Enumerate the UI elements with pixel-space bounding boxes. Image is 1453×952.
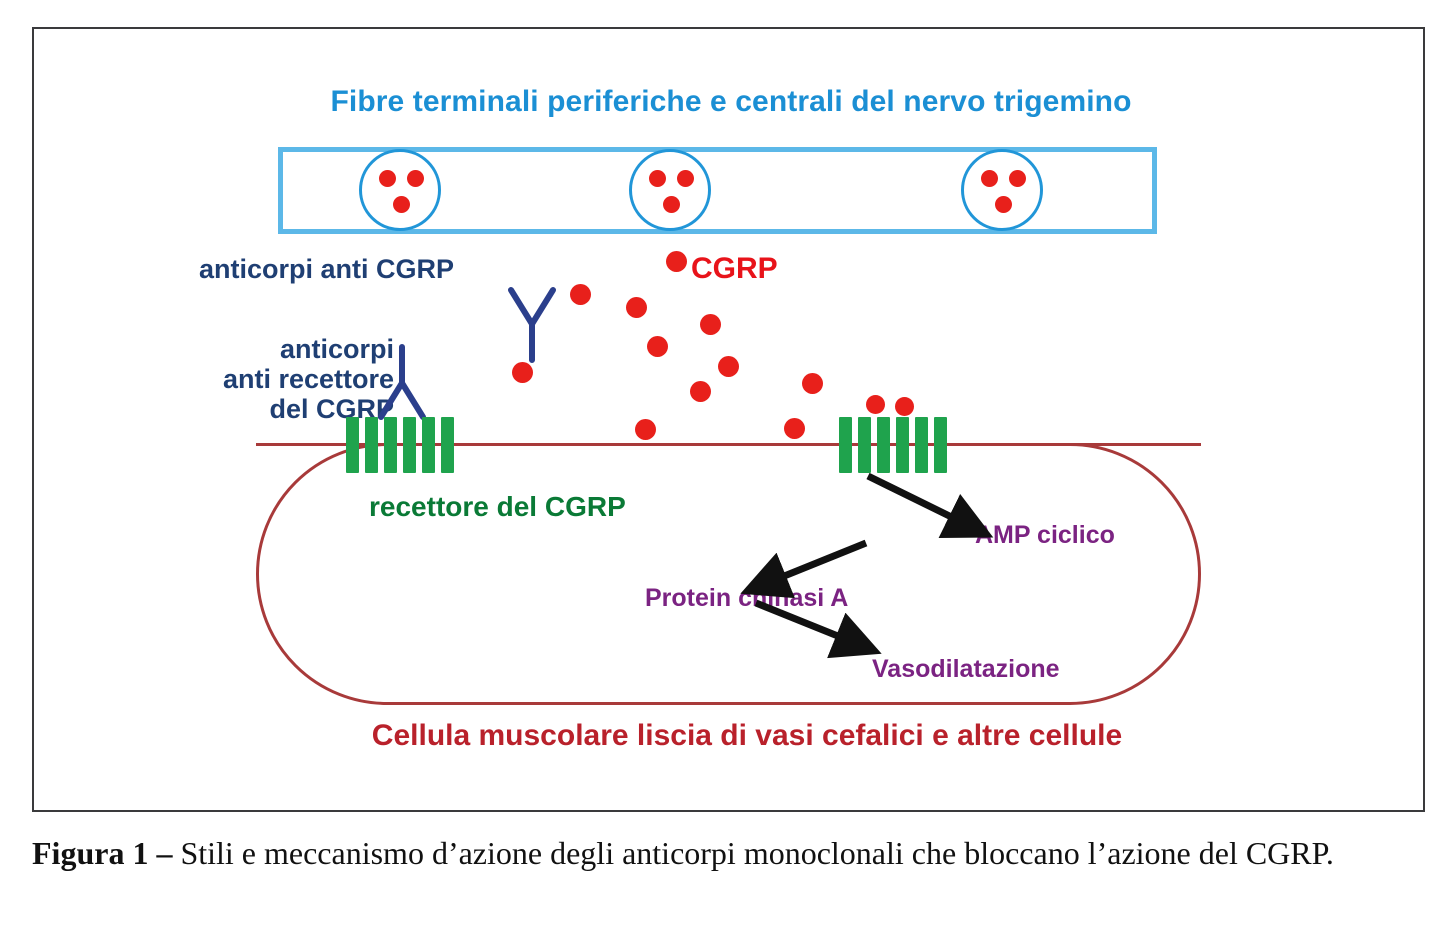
cgrp-molecule — [647, 336, 668, 357]
cgrp-vesicle-dot — [677, 170, 694, 187]
receptor-bar — [858, 417, 871, 473]
cgrp-molecule — [570, 284, 591, 305]
cgrp-vesicle-dot — [663, 196, 680, 213]
receptor-bar — [403, 417, 416, 473]
smooth-muscle-cell-membrane — [256, 443, 1201, 705]
cgrp-vesicle-dot — [649, 170, 666, 187]
figure-frame: Fibre terminali periferiche e centrali d… — [32, 27, 1425, 812]
arrow-receptor-to-amp — [864, 472, 1004, 544]
receptor-bar — [877, 417, 890, 473]
cgrp-vesicle-dot — [379, 170, 396, 187]
figure-caption: Figura 1 – Stili e meccanismo d’azione d… — [32, 832, 1432, 874]
cgrp-vesicle-dot — [407, 170, 424, 187]
cgrp-molecule-bound-receptor — [895, 397, 914, 416]
cgrp-molecule — [718, 356, 739, 377]
figure-page: Fibre terminali periferiche e centrali d… — [0, 0, 1453, 952]
receptor-bar — [915, 417, 928, 473]
figure-caption-text: Stili e meccanismo d’azione degli antico… — [180, 835, 1333, 871]
cgrp-receptor-left — [346, 417, 456, 473]
receptor-bar — [346, 417, 359, 473]
antibody-anti-receptor-icon — [374, 341, 430, 423]
receptor-bar — [365, 417, 378, 473]
cgrp-molecule — [690, 381, 711, 402]
cgrp-molecule — [802, 373, 823, 394]
cgrp-vesicle-dot — [995, 196, 1012, 213]
receptor-bar — [896, 417, 909, 473]
cgrp-molecule — [700, 314, 721, 335]
cgrp-vesicle-dot — [981, 170, 998, 187]
cgrp-molecule-bound-antibody — [512, 362, 533, 383]
antibody-anti-cgrp-icon — [504, 282, 560, 366]
nerve-terminal-middle — [629, 149, 711, 231]
arrow-pka-to-vasodilatazione — [752, 599, 892, 661]
diagram-canvas: Fibre terminali periferiche e centrali d… — [34, 29, 1427, 814]
cgrp-molecule — [666, 251, 687, 272]
cgrp-vesicle-dot — [393, 196, 410, 213]
cgrp-molecule — [635, 419, 656, 440]
figure-caption-label: Figura 1 – — [32, 835, 180, 871]
label-line-2: anti recettore — [223, 364, 394, 394]
arrow-amp-to-pka — [734, 539, 874, 601]
receptor-bar — [422, 417, 435, 473]
cgrp-vesicle-dot — [1009, 170, 1026, 187]
cgrp-molecule-bound-receptor — [866, 395, 885, 414]
cgrp-molecule — [784, 418, 805, 439]
nerve-fibers-title: Fibre terminali periferiche e centrali d… — [256, 85, 1206, 119]
receptor-bar — [839, 417, 852, 473]
receptor-bar — [934, 417, 947, 473]
nerve-terminal-left — [359, 149, 441, 231]
label-anticorpi-anti-recettore: anticorpi anti recettore del CGRP — [134, 334, 394, 425]
nerve-terminal-right — [961, 149, 1043, 231]
receptor-bar — [384, 417, 397, 473]
cgrp-molecule — [626, 297, 647, 318]
label-cellula-muscolare-liscia: Cellula muscolare liscia di vasi cefalic… — [297, 719, 1197, 753]
cgrp-receptor-right — [839, 417, 949, 473]
label-anticorpi-anti-cgrp: anticorpi anti CGRP — [199, 254, 454, 284]
receptor-bar — [441, 417, 454, 473]
label-cgrp: CGRP — [691, 252, 778, 286]
